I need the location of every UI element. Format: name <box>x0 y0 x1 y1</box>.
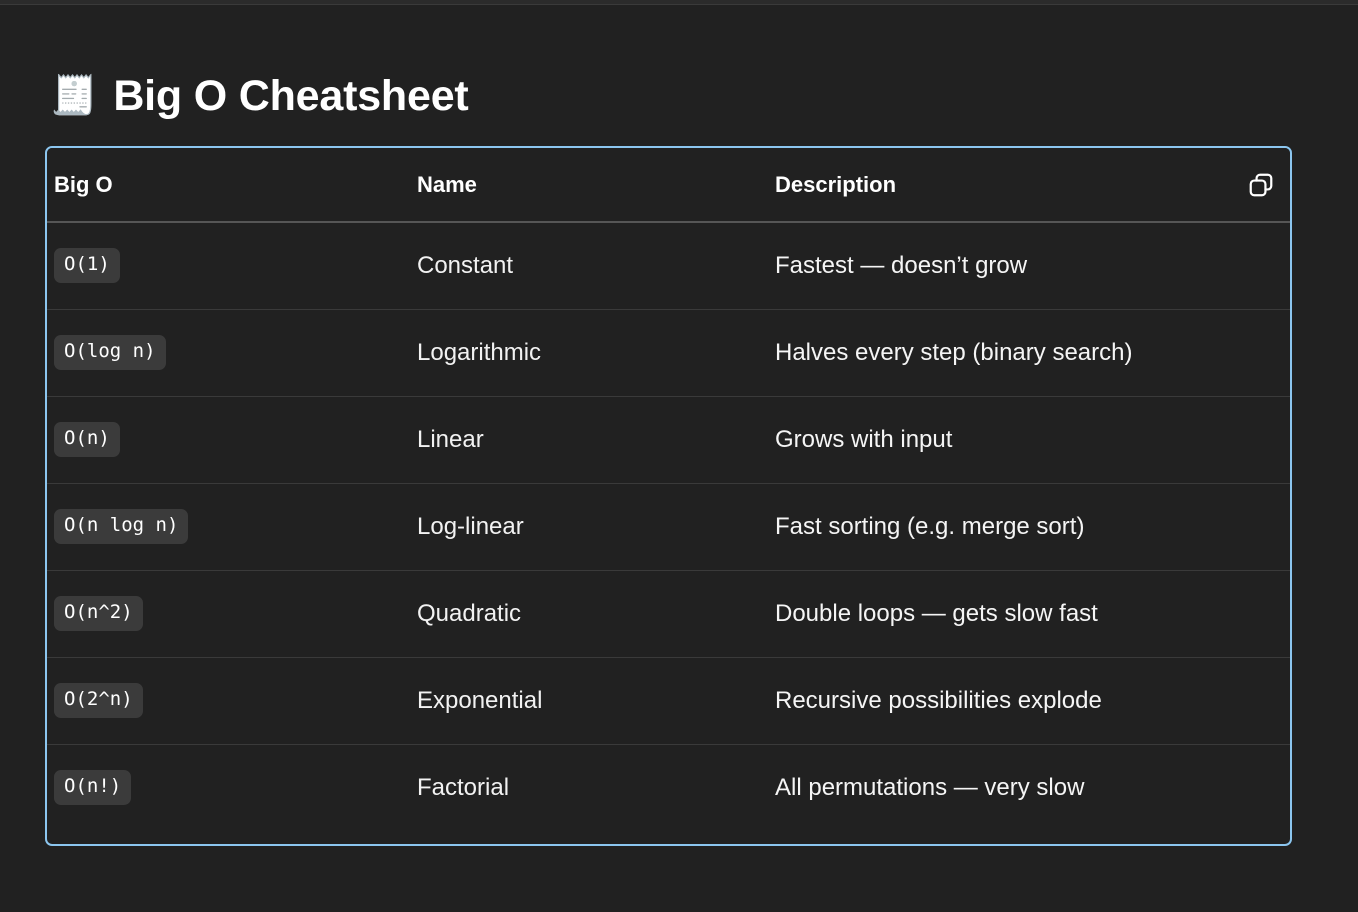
page-title: Big O Cheatsheet <box>113 75 468 118</box>
bigo-badge: O(n) <box>54 422 120 457</box>
cell-spacer <box>1218 744 1290 831</box>
cell-description: Recursive possibilities explode <box>775 657 1218 744</box>
cell-bigo: O(n log n) <box>47 483 417 570</box>
table-header-row: Big O Name Description <box>47 148 1290 222</box>
cell-spacer <box>1218 657 1290 744</box>
cell-name: Quadratic <box>417 570 775 657</box>
receipt-icon: 🧾 <box>50 77 97 115</box>
cell-bigo: O(n^2) <box>47 570 417 657</box>
cell-bigo: O(2^n) <box>47 657 417 744</box>
cell-description: Grows with input <box>775 396 1218 483</box>
table-row: O(2^n) Exponential Recursive possibiliti… <box>47 657 1290 744</box>
page-root: 🧾 Big O Cheatsheet Big O Name Descriptio… <box>0 0 1358 912</box>
cell-spacer <box>1218 222 1290 309</box>
cell-bigo: O(n!) <box>47 744 417 831</box>
copy-button[interactable] <box>1244 168 1278 202</box>
cell-bigo: O(1) <box>47 222 417 309</box>
cell-name: Constant <box>417 222 775 309</box>
cell-description: Fastest — doesn’t grow <box>775 222 1218 309</box>
cell-spacer <box>1218 483 1290 570</box>
table-row: O(n^2) Quadratic Double loops — gets slo… <box>47 570 1290 657</box>
bigo-badge: O(n!) <box>54 770 131 805</box>
bigo-badge: O(1) <box>54 248 120 283</box>
cell-description: All permutations — very slow <box>775 744 1218 831</box>
cell-name: Linear <box>417 396 775 483</box>
cell-name: Log-linear <box>417 483 775 570</box>
cell-description: Fast sorting (e.g. merge sort) <box>775 483 1218 570</box>
cell-bigo: O(n) <box>47 396 417 483</box>
table-body: O(1) Constant Fastest — doesn’t grow O(l… <box>47 222 1290 831</box>
bigo-badge: O(2^n) <box>54 683 143 718</box>
column-header-bigo: Big O <box>47 148 417 222</box>
cell-name: Exponential <box>417 657 775 744</box>
page-header: 🧾 Big O Cheatsheet <box>50 62 469 130</box>
bigo-badge: O(n^2) <box>54 596 143 631</box>
table-row: O(n!) Factorial All permutations — very … <box>47 744 1290 831</box>
cell-name: Logarithmic <box>417 309 775 396</box>
cell-spacer <box>1218 396 1290 483</box>
cell-bigo: O(log n) <box>47 309 417 396</box>
cheatsheet-card: Big O Name Description <box>45 146 1292 846</box>
bigo-badge: O(n log n) <box>54 509 188 544</box>
table-header: Big O Name Description <box>47 148 1290 222</box>
bigo-table: Big O Name Description <box>47 148 1290 831</box>
column-header-description: Description <box>775 148 1218 222</box>
cell-description: Double loops — gets slow fast <box>775 570 1218 657</box>
table-row: O(1) Constant Fastest — doesn’t grow <box>47 222 1290 309</box>
column-header-name: Name <box>417 148 775 222</box>
table-row: O(n) Linear Grows with input <box>47 396 1290 483</box>
copy-icon <box>1247 171 1275 199</box>
column-header-actions <box>1218 148 1290 222</box>
cell-spacer <box>1218 309 1290 396</box>
cell-description: Halves every step (binary search) <box>775 309 1218 396</box>
table-row: O(log n) Logarithmic Halves every step (… <box>47 309 1290 396</box>
cell-spacer <box>1218 570 1290 657</box>
cell-name: Factorial <box>417 744 775 831</box>
top-strip <box>0 0 1358 5</box>
bigo-badge: O(log n) <box>54 335 166 370</box>
table-row: O(n log n) Log-linear Fast sorting (e.g.… <box>47 483 1290 570</box>
